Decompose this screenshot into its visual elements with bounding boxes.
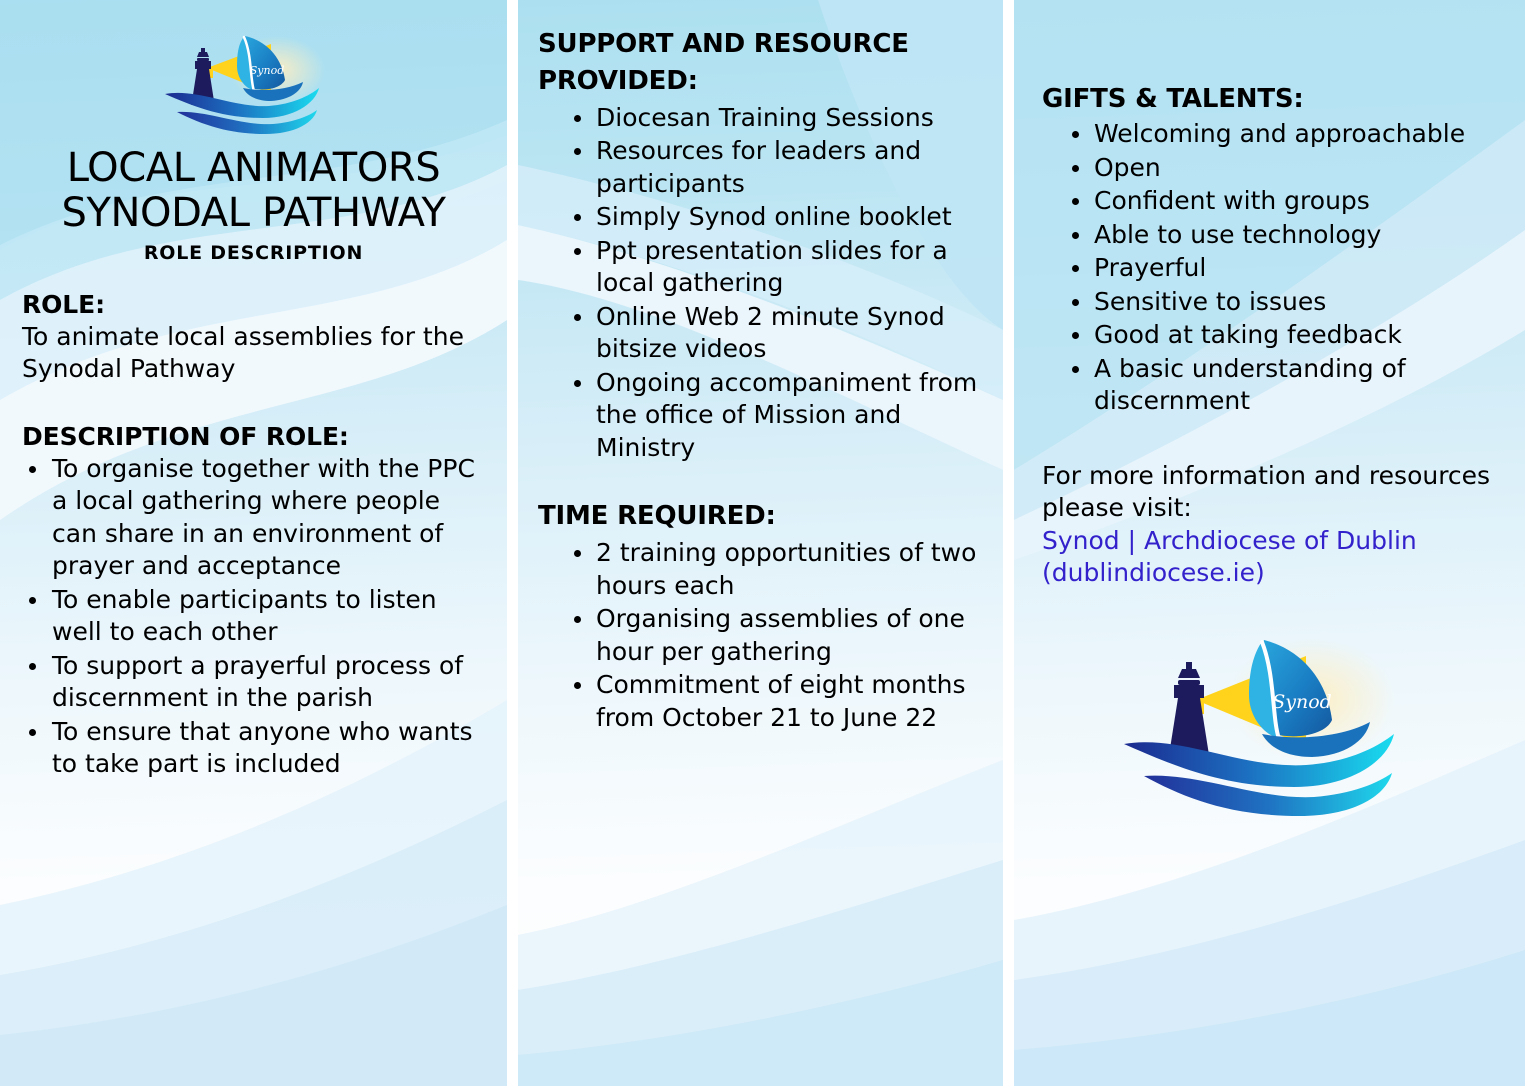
list-item: Open (1064, 152, 1505, 185)
list-item: Resources for leaders and participants (566, 135, 985, 200)
panel-middle: SUPPORT AND RESOURCE PROVIDED: Diocesan … (518, 0, 1003, 1086)
list-item: Prayerful (1064, 252, 1505, 285)
synod-logo-icon: Synod (159, 22, 349, 140)
description-of-role-heading: DESCRIPTION OF ROLE: (22, 422, 485, 451)
description-of-role-list: To organise together with the PPC a loca… (22, 453, 485, 781)
list-item: To enable participants to listen well to… (22, 584, 485, 649)
list-item: Able to use technology (1064, 219, 1505, 252)
list-item: To ensure that anyone who wants to take … (22, 716, 485, 781)
list-item: To organise together with the PPC a loca… (22, 453, 485, 583)
brochure-page: Synod LOCAL ANIMATORS SYNODAL PATHWAY RO… (0, 0, 1536, 1086)
panel-divider-2 (1003, 0, 1014, 1086)
list-item: Ppt presentation slides for a local gath… (566, 235, 985, 300)
time-required-heading: TIME REQUIRED: (538, 498, 985, 535)
list-item: Commitment of eight months from October … (566, 669, 985, 734)
panel-right: GIFTS & TALENTS: Welcoming and approacha… (1014, 0, 1525, 1086)
synod-logo-icon: Synod (1114, 616, 1434, 831)
list-item: Organising assemblies of one hour per ga… (566, 603, 985, 668)
panel-left: Synod LOCAL ANIMATORS SYNODAL PATHWAY RO… (0, 0, 507, 1086)
time-required-list: 2 training opportunities of two hours ea… (566, 537, 985, 734)
left-column-content: Synod LOCAL ANIMATORS SYNODAL PATHWAY RO… (0, 22, 507, 1086)
list-item: To support a prayerful process of discer… (22, 650, 485, 715)
more-information-text: For more information and resources pleas… (1042, 460, 1505, 525)
list-item: Simply Synod online booklet (566, 201, 985, 234)
svg-text:Synod: Synod (249, 64, 284, 77)
right-column-content: GIFTS & TALENTS: Welcoming and approacha… (1014, 84, 1525, 1086)
support-and-resource-list: Diocesan Training Sessions Resources for… (566, 102, 985, 465)
list-item: Welcoming and approachable (1064, 118, 1505, 151)
role-text: To animate local assemblies for the Syno… (22, 321, 485, 386)
list-item: Ongoing accompaniment from the office of… (566, 367, 985, 465)
list-item: Sensitive to issues (1064, 286, 1505, 319)
list-item: Good at taking feedback (1064, 319, 1505, 352)
panel-divider-1 (507, 0, 518, 1086)
list-item: 2 training opportunities of two hours ea… (566, 537, 985, 602)
list-item: Online Web 2 minute Synod bitsize videos (566, 301, 985, 366)
gifts-and-talents-list: Welcoming and approachable Open Confiden… (1064, 118, 1505, 418)
gifts-and-talents-heading: GIFTS & TALENTS: (1042, 84, 1505, 114)
list-item: Diocesan Training Sessions (566, 102, 985, 135)
list-item: A basic understanding of discernment (1064, 353, 1505, 418)
list-item: Confident with groups (1064, 185, 1505, 218)
middle-column-content: SUPPORT AND RESOURCE PROVIDED: Diocesan … (518, 26, 1003, 1086)
dublin-diocese-synod-link[interactable]: Synod | Archdiocese of Dublin (dublindio… (1042, 525, 1505, 590)
page-title: LOCAL ANIMATORS SYNODAL PATHWAY (22, 146, 485, 236)
role-heading: ROLE: (22, 290, 485, 319)
svg-text:Synod: Synod (1272, 691, 1332, 713)
page-subtitle: ROLE DESCRIPTION (22, 242, 485, 264)
support-and-resource-heading: SUPPORT AND RESOURCE PROVIDED: (538, 26, 985, 100)
